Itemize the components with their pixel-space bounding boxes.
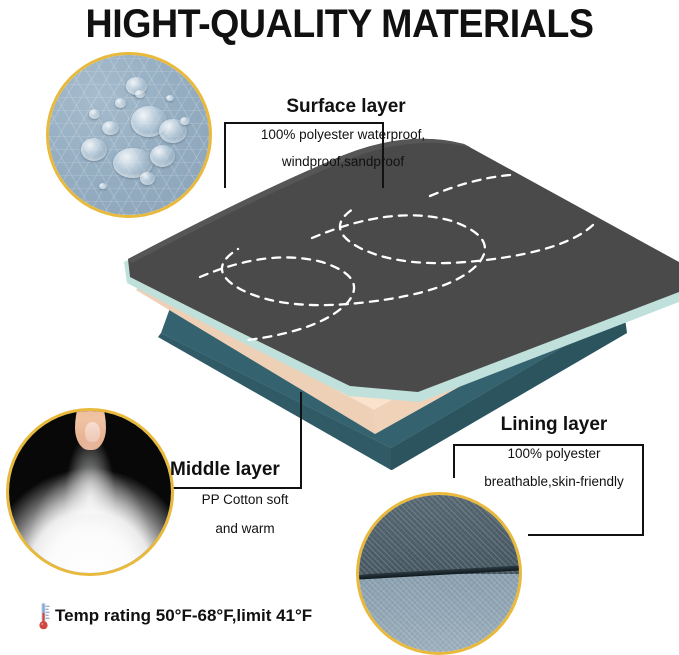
callout-middle-line1: PP Cotton soft <box>170 481 320 510</box>
infographic-stage: HIGHT-QUALITY MATERIALS <box>0 0 679 655</box>
callout-surface-layer: Surface layer 100% polyester waterproof,… <box>226 96 456 172</box>
callout-lining-line2: breathable,skin-friendly <box>456 464 652 492</box>
inset-surface-fabric-photo <box>46 52 212 218</box>
callout-lining-line1: 100% polyester <box>456 436 652 464</box>
callout-middle-line2: and warm <box>170 510 320 539</box>
callout-surface-line1: 100% polyester waterproof, <box>226 118 456 145</box>
callout-surface-line2: windproof,sandproof <box>226 145 456 172</box>
cotton-fluff <box>6 443 174 576</box>
callout-middle-heading: Middle layer <box>170 459 320 481</box>
lining-fabric-face <box>359 495 519 577</box>
thermometer-icon <box>36 601 51 631</box>
temperature-rating-row: Temp rating 50°F-68°F,limit 41°F <box>36 601 312 631</box>
inset-lining-fabric-photo <box>356 492 522 655</box>
water-droplet <box>81 138 107 160</box>
callout-surface-heading: Surface layer <box>226 96 456 118</box>
temperature-rating-text: Temp rating 50°F-68°F,limit 41°F <box>55 606 312 626</box>
callout-middle-layer: Middle layer PP Cotton soft and warm <box>170 459 320 539</box>
water-droplet <box>115 98 126 108</box>
water-droplet <box>99 183 107 189</box>
lining-fabric-back <box>359 574 519 653</box>
callout-lining-layer: Lining layer 100% polyester breathable,s… <box>456 414 652 492</box>
water-droplet <box>140 172 154 185</box>
inset-pp-cotton-photo <box>6 408 174 576</box>
leader-lining-hook <box>528 534 644 536</box>
leader-lining-left <box>453 444 455 478</box>
callout-lining-heading: Lining layer <box>456 414 652 436</box>
